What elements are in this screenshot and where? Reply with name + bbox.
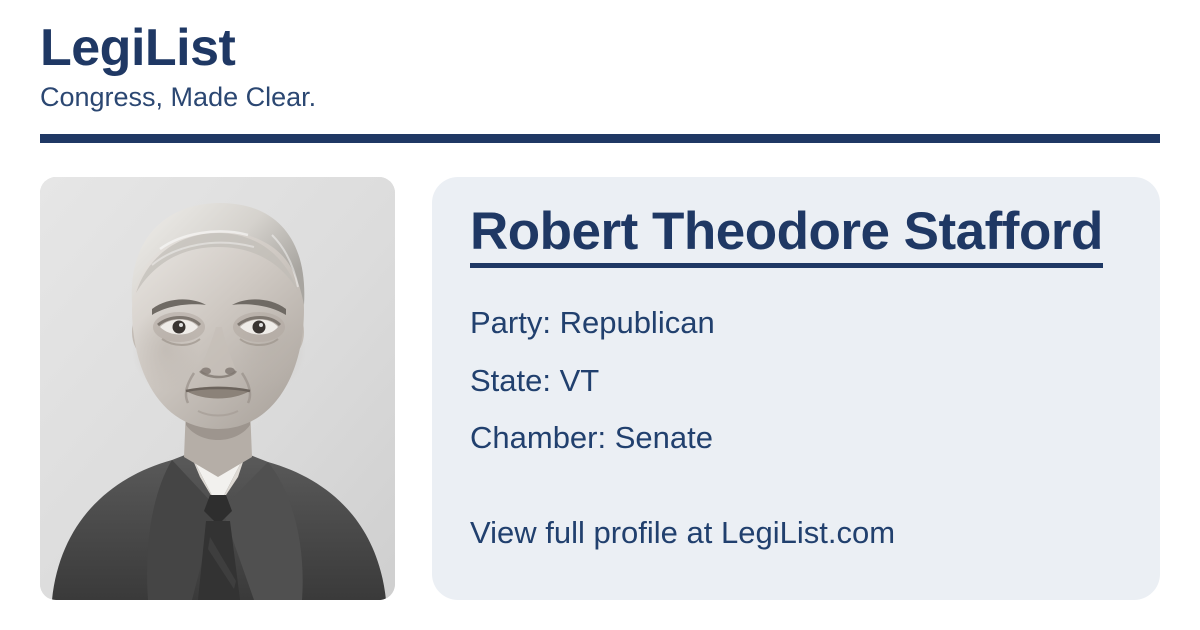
member-chamber: Chamber: Senate (470, 409, 1200, 466)
member-portrait (40, 177, 395, 600)
member-name-link[interactable]: Robert Theodore Stafford (470, 203, 1103, 268)
social-card-page: LegiList Congress, Made Clear. (0, 0, 1200, 630)
member-portrait-photo-icon (40, 177, 395, 600)
brand-title: LegiList (40, 22, 1160, 75)
brand-tagline: Congress, Made Clear. (40, 81, 1160, 113)
member-state: State: VT (470, 352, 1200, 409)
member-info-content: Robert Theodore Stafford Party: Republic… (470, 203, 1200, 552)
site-header: LegiList Congress, Made Clear. (40, 22, 1160, 113)
member-info-card: Robert Theodore Stafford Party: Republic… (432, 177, 1160, 600)
member-meta-list: Party: Republican State: VT Chamber: Sen… (470, 294, 1200, 466)
content-row: Robert Theodore Stafford Party: Republic… (0, 177, 1200, 600)
member-party: Party: Republican (470, 294, 1200, 351)
header-divider-rule (40, 134, 1160, 143)
view-profile-cta[interactable]: View full profile at LegiList.com (470, 514, 1200, 551)
